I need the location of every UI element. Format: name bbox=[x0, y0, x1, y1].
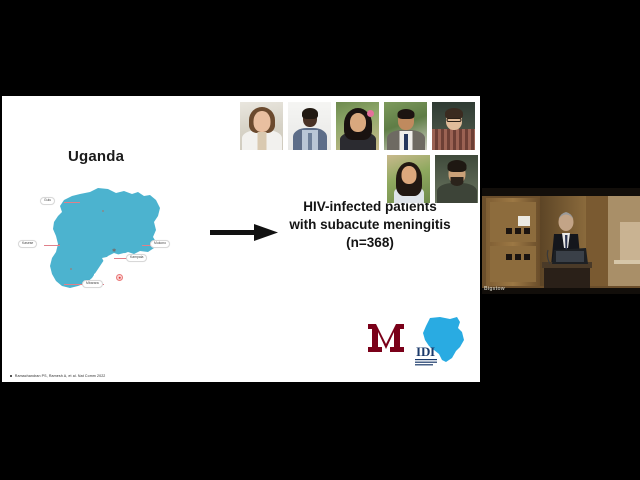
map-label-kampala: Kampala bbox=[126, 254, 147, 262]
collaborator-photo bbox=[387, 155, 430, 203]
map-label-mukono: Mukono bbox=[150, 240, 170, 248]
page-title: Uganda bbox=[68, 148, 124, 165]
kampala-marker-icon: ✱ bbox=[112, 249, 117, 254]
citation-text: Ramachandran PS, Ramesh A, et al. Nat Co… bbox=[15, 374, 106, 378]
map-label-gulu: Gulu bbox=[40, 197, 55, 205]
headline-line-3: (n=368) bbox=[270, 234, 470, 252]
photo-row-1 bbox=[240, 102, 480, 150]
video-scene bbox=[482, 188, 640, 294]
citation-footnote: Ramachandran PS, Ramesh A, et al. Nat Co… bbox=[10, 374, 105, 378]
institution-logos: I D I bbox=[360, 314, 478, 368]
bullet-icon bbox=[10, 375, 12, 377]
uganda-country-shape bbox=[50, 188, 160, 288]
headline-line-2: with subacute meningitis bbox=[270, 216, 470, 234]
university-of-minnesota-logo bbox=[366, 320, 406, 361]
presentation-slide: Uganda ✱ Gulu Kasese Mukono bbox=[2, 96, 480, 382]
video-frame bbox=[482, 188, 640, 294]
photo-row-2 bbox=[240, 155, 480, 203]
screen-capture: Uganda ✱ Gulu Kasese Mukono bbox=[0, 0, 640, 480]
svg-text:D: D bbox=[421, 344, 430, 359]
leader-line-kasese bbox=[44, 245, 60, 246]
idi-logo: I D I bbox=[412, 314, 470, 371]
collaborator-photo bbox=[435, 155, 478, 203]
slide-headline: HIV-infected patients with subacute meni… bbox=[270, 198, 470, 251]
video-watermark: Bigstow bbox=[484, 286, 505, 292]
collaborator-photo bbox=[240, 102, 283, 150]
speaker-video-panel[interactable]: Bigstow bbox=[482, 188, 640, 294]
map-label-kasese: Kasese bbox=[18, 240, 37, 248]
collaborator-photo bbox=[288, 102, 331, 150]
mbarara-highlight-marker bbox=[116, 274, 123, 281]
collaborator-photo bbox=[432, 102, 475, 150]
right-arrow-icon bbox=[210, 222, 278, 244]
city-dot-north bbox=[102, 210, 104, 212]
leader-line-gulu bbox=[64, 202, 80, 203]
collaborator-photo bbox=[336, 102, 379, 150]
uganda-map: ✱ Gulu Kasese Mukono Kampala Mbarara bbox=[20, 182, 190, 302]
svg-text:I: I bbox=[430, 344, 435, 359]
collaborator-photo-grid bbox=[240, 102, 480, 203]
map-label-mbarara: Mbarara bbox=[82, 280, 103, 288]
city-dot-southwest bbox=[70, 268, 72, 270]
collaborator-photo bbox=[384, 102, 427, 150]
